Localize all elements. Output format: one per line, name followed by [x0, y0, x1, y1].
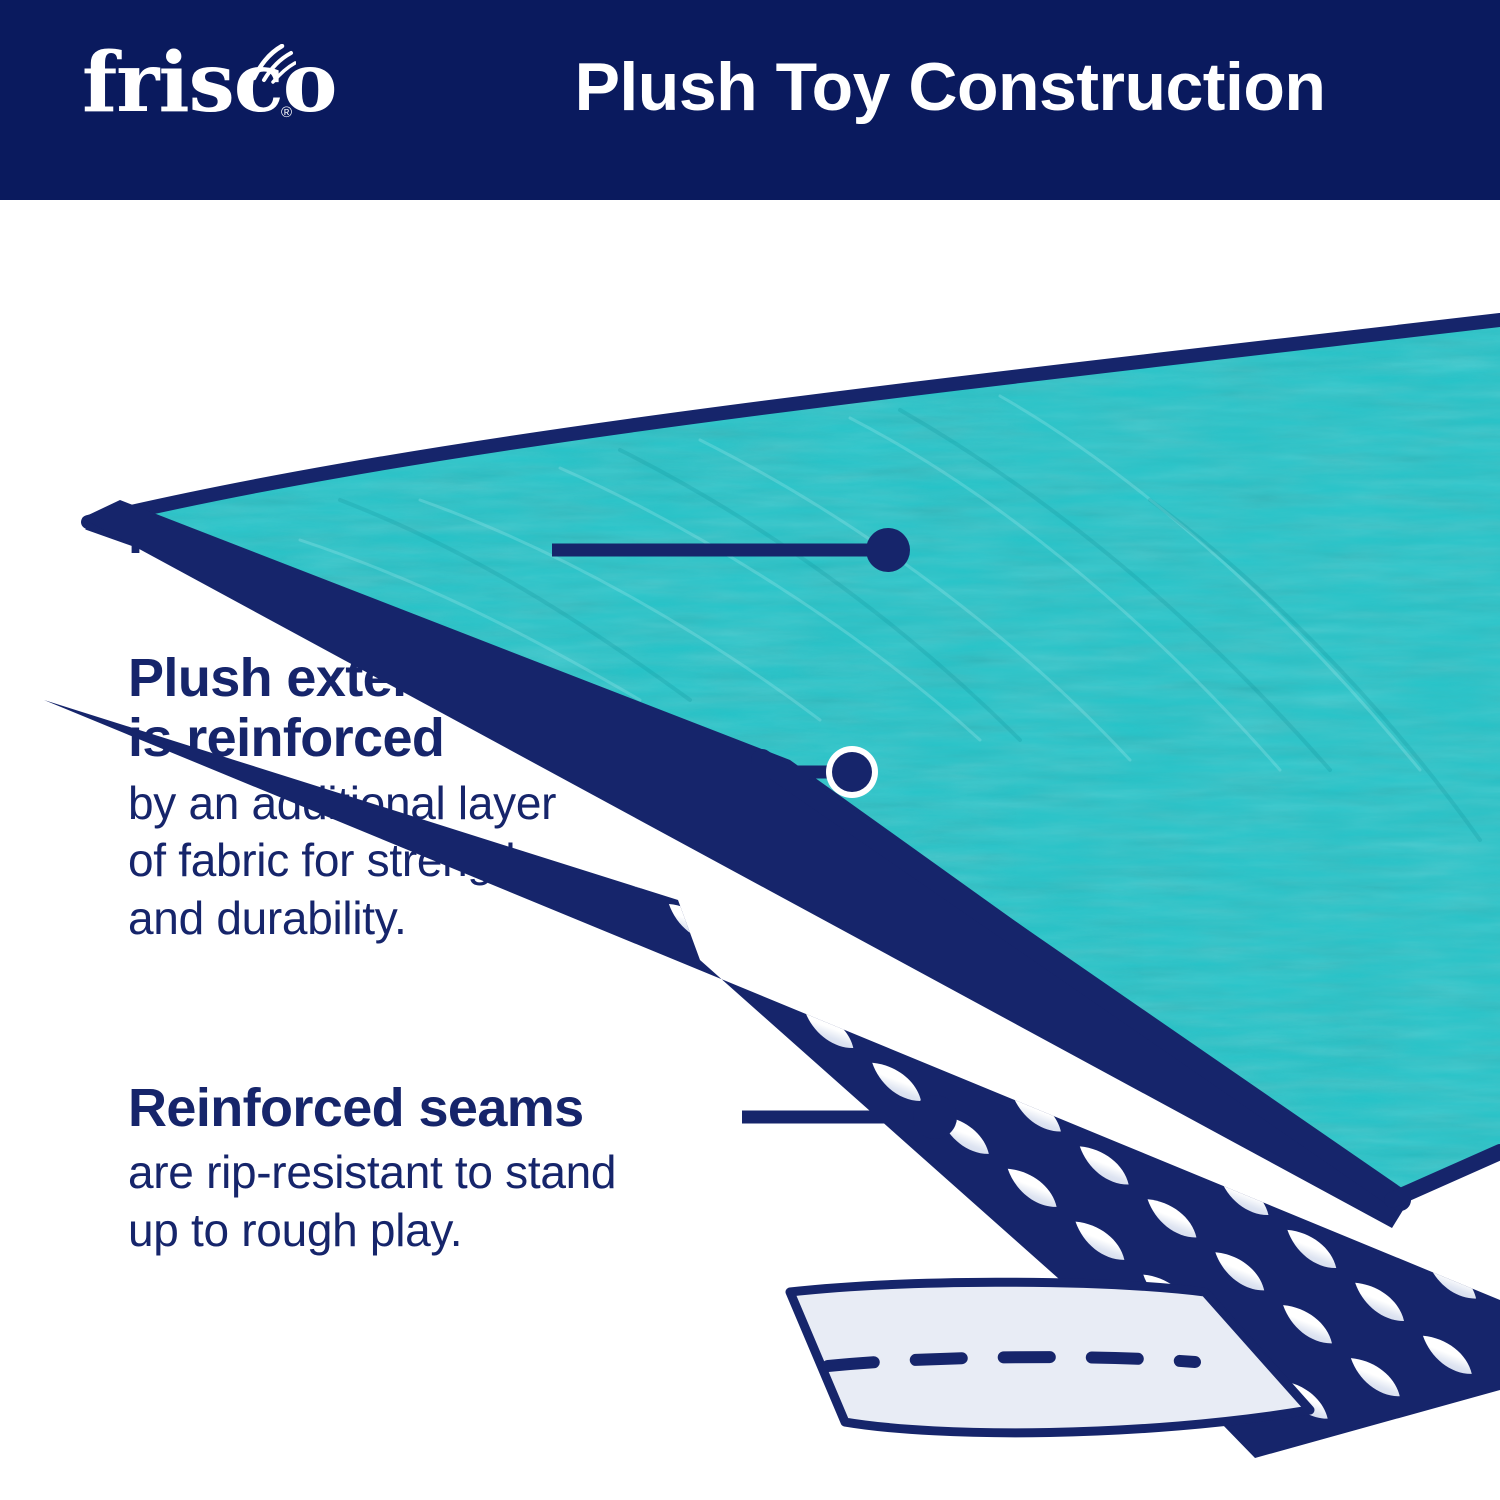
- leader-dot-reinforced-seams: [913, 1095, 957, 1139]
- leader-dot-plush-exterior: [832, 752, 872, 792]
- leader-line-reinforced-seams: [742, 1095, 957, 1139]
- frisco-logo-wordmark: frisco: [82, 42, 336, 124]
- header-bar: frisco ® Plush Toy Construction: [0, 0, 1500, 200]
- frisco-logo: frisco: [82, 42, 336, 147]
- infographic-page: frisco ® Plush Toy Construction Plush fa…: [0, 0, 1500, 1500]
- registered-trademark-mark: ®: [281, 104, 292, 121]
- page-title: Plush Toy Construction: [500, 50, 1400, 125]
- leader-dot-plush-fabric: [866, 528, 910, 572]
- plush-toy-corner-cutaway-diagram: [0, 200, 1500, 1500]
